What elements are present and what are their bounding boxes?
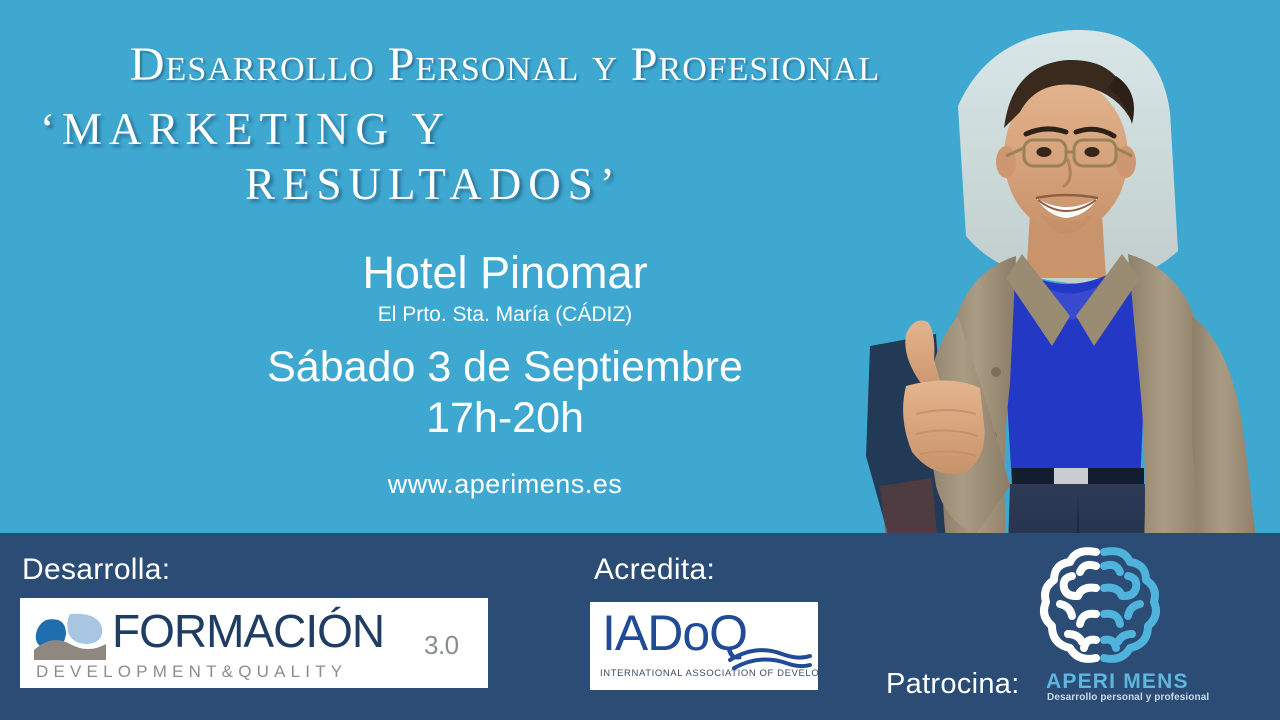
event-poster: Desarrollo Personal y Profesional ‘MARKE…	[0, 0, 1280, 720]
brain-icon	[1032, 542, 1168, 668]
website-url: www.aperimens.es	[0, 469, 1010, 500]
aperimens-wordmark: APERI MENS	[1046, 670, 1189, 694]
iadoq-tagline: INTERNATIONAL ASSOCIATION OF DEVELOPMENT…	[600, 668, 818, 679]
venue-location: El Prto. Sta. María (CÁDIZ)	[0, 300, 1010, 329]
formacion-logo: FORMACIÓN 3.0 DEVELOPMENT&QUALITY	[20, 598, 488, 688]
aperimens-tagline: Desarrollo personal y profesional	[1047, 692, 1209, 703]
event-time: 17h-20h	[0, 393, 1010, 444]
subtitle-line-2: RESULTADOS’	[0, 157, 710, 212]
acredita-label: Acredita:	[594, 553, 715, 587]
formacion-version: 3.0	[424, 630, 459, 661]
desarrolla-label: Desarrolla:	[22, 553, 170, 587]
iadoq-wordmark: IADoQ	[602, 604, 747, 662]
event-info-block: Hotel Pinomar El Prto. Sta. María (CÁDIZ…	[0, 248, 1010, 500]
headline-block: Desarrollo Personal y Profesional ‘MARKE…	[0, 40, 1010, 212]
page-subtitle: ‘MARKETING Y RESULTADOS’	[0, 102, 1010, 212]
iadoq-logo: IADoQ INTERNATIONAL ASSOCIATION OF DEVEL…	[590, 602, 818, 690]
formacion-mark-icon	[32, 610, 110, 662]
patrocina-label: Patrocina:	[886, 668, 1020, 701]
formacion-wordmark: FORMACIÓN	[112, 604, 384, 658]
event-date: Sábado 3 de Septiembre	[0, 342, 1010, 393]
page-title: Desarrollo Personal y Profesional	[0, 40, 1010, 90]
formacion-tagline: DEVELOPMENT&QUALITY	[36, 662, 347, 682]
subtitle-line-1: ‘MARKETING Y	[0, 102, 710, 157]
venue-name: Hotel Pinomar	[0, 248, 1010, 298]
